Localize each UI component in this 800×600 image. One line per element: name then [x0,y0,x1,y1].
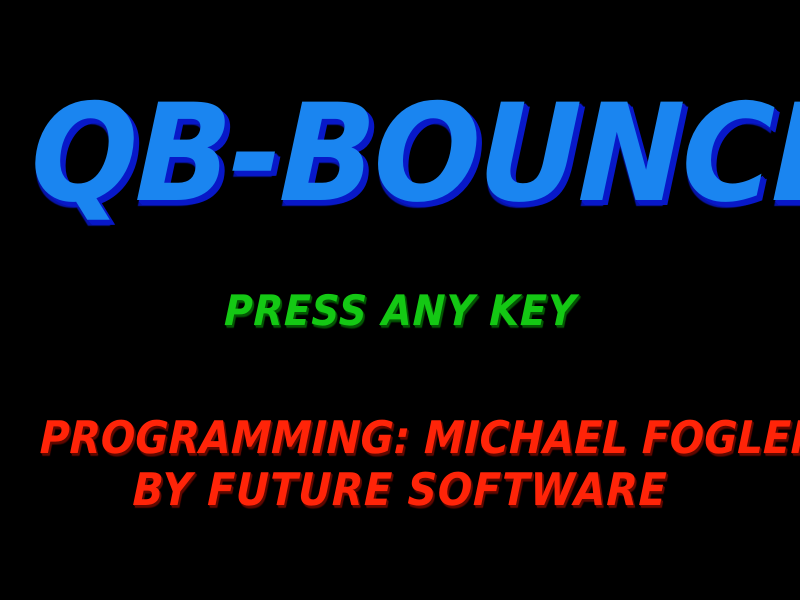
press-any-key-prompt[interactable]: PRESS ANY KEY [223,290,577,332]
credit-line-publisher: BY FUTURE SOFTWARE [39,464,761,516]
game-title-screen[interactable]: QB-BOUNCE PRESS ANY KEY PROGRAMMING: MIC… [0,0,800,600]
press-any-key-container: PRESS ANY KEY [0,290,800,332]
game-title-container: QB-BOUNCE [0,86,800,221]
credits-container: PROGRAMMING: MICHAEL FOGLEMAN BY FUTURE … [0,412,800,516]
game-title: QB-BOUNCE [29,86,800,221]
credit-line-programming: PROGRAMMING: MICHAEL FOGLEMAN [39,412,761,464]
